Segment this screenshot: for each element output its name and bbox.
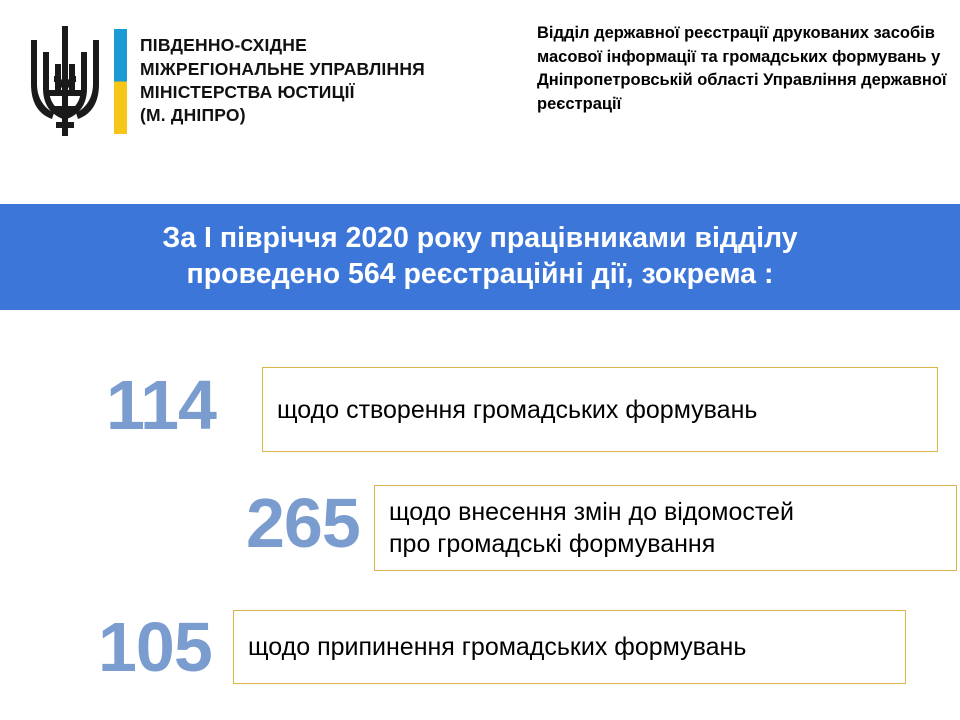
logo-line-1: ПІВДЕННО-СХІДНЕ (140, 34, 425, 57)
stat-label-block-1: щодо створення громадських формувань (263, 394, 765, 426)
banner-line-2: проведено 564 реєстраційні дії, зокрема … (40, 257, 920, 293)
logo-line-2: МІЖРЕГІОНАЛЬНЕ УПРАВЛІННЯ (140, 58, 425, 81)
logo-line-3: МІНІСТЕРСТВА ЮСТИЦІЇ (140, 81, 425, 104)
stat-label-block-3: щодо припинення громадських формувань (234, 631, 754, 663)
logo-line-4: (М. ДНІПРО) (140, 104, 425, 127)
stat-callout-3: щодо припинення громадських формувань (233, 610, 906, 684)
stat-value-1: 114 (106, 370, 216, 440)
organization-name: Відділ державної реєстрації друкованих з… (537, 22, 957, 116)
stat-label-block-2: щодо внесення змін до відомостей про гро… (375, 496, 802, 560)
title-banner: За I півріччя 2020 року працівниками від… (0, 204, 960, 310)
stat-label-2-line-1: щодо внесення змін до відомостей (389, 496, 794, 528)
ministry-logo: ПІВДЕННО-СХІДНЕ МІЖРЕГІОНАЛЬНЕ УПРАВЛІНН… (26, 22, 425, 140)
stat-value-2: 265 (246, 488, 360, 558)
banner-line-1: За I півріччя 2020 року працівниками від… (40, 221, 920, 257)
stat-label-2-line-2: про громадські формування (389, 528, 794, 560)
page-header: ПІВДЕННО-СХІДНЕ МІЖРЕГІОНАЛЬНЕ УПРАВЛІНН… (0, 0, 960, 204)
stat-callout-1: щодо створення громадських формувань (262, 367, 938, 452)
stat-label-1-line-1: щодо створення громадських формувань (277, 394, 757, 426)
stat-label-3-line-1: щодо припинення громадських формувань (248, 631, 746, 663)
logo-text-block: ПІВДЕННО-СХІДНЕ МІЖРЕГІОНАЛЬНЕ УПРАВЛІНН… (140, 34, 425, 127)
stat-callout-2: щодо внесення змін до відомостей про гро… (374, 485, 957, 571)
ukraine-flag-bar (114, 29, 127, 134)
ukrainian-trident-emblem (26, 22, 104, 140)
banner-text-block: За I півріччя 2020 року працівниками від… (40, 221, 920, 293)
stat-value-3: 105 (98, 612, 212, 682)
